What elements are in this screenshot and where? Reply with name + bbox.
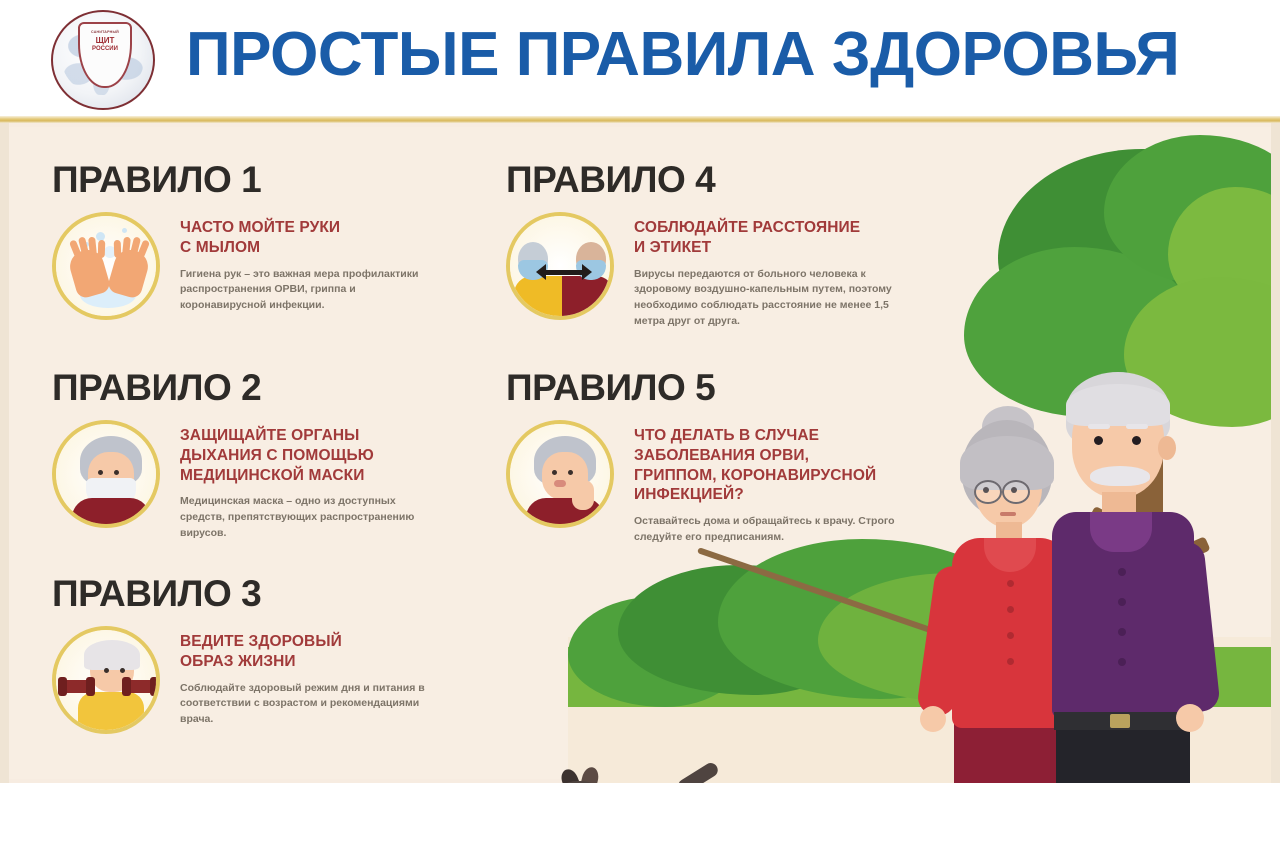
- torso: [78, 692, 144, 734]
- rule-block-3: ПРАВИЛО 3: [52, 575, 452, 734]
- man-eyebrow: [1126, 424, 1148, 429]
- mouth: [554, 480, 566, 487]
- man-ear: [1158, 436, 1176, 460]
- rule-number: ПРАВИЛО 5: [506, 369, 926, 406]
- distance-arrow-line: [544, 270, 584, 275]
- dumbbell-cap: [58, 677, 67, 696]
- man-eye: [1094, 436, 1103, 445]
- rule-body-text: Соблюдайте здоровый режим дня и питания …: [180, 681, 432, 728]
- person-in-mask-icon: [52, 420, 160, 528]
- infographic-poster: САНИТАРНЫЙ ЩИТ РОССИИ ПРОСТЫЕ ПРАВИЛА ЗД…: [0, 0, 1280, 866]
- poster-footer: Ваш Роспотребнадзор: [0, 783, 1280, 866]
- eye: [552, 470, 557, 475]
- person-right-body: [562, 276, 614, 320]
- header-divider: [0, 116, 1280, 123]
- finger: [98, 240, 106, 258]
- man-eyebrow: [1088, 424, 1110, 429]
- logo-line-2: ЩИТ: [96, 37, 115, 45]
- left-frame: [0, 123, 9, 783]
- poster-header: САНИТАРНЫЙ ЩИТ РОССИИ ПРОСТЫЕ ПРАВИЛА ЗД…: [0, 0, 1280, 118]
- rule-number: ПРАВИЛО 1: [52, 161, 452, 198]
- rule-number: ПРАВИЛО 2: [52, 369, 452, 406]
- woman-button: [1007, 580, 1014, 587]
- eye: [104, 668, 109, 673]
- rule-number: ПРАВИЛО 4: [506, 161, 926, 198]
- rule-block-5: ПРАВИЛО 5 ЧТО ДЕЛАТЬ В СЛУЧАЕ: [506, 369, 926, 546]
- woman-button: [1007, 606, 1014, 613]
- rule-body-text: Гигиена рук – это важная мера профилакти…: [180, 267, 430, 314]
- dumbbell-cap: [150, 677, 159, 696]
- arrow-head-right: [582, 264, 592, 280]
- rule-block-2: ПРАВИЛО 2 ЗАЩИЩАЙТЕ ОРГАНЫ ДЫХАНИЯ С ПОМ…: [52, 369, 452, 542]
- hand-to-face: [572, 480, 594, 510]
- belt-buckle: [1110, 714, 1130, 728]
- eye: [98, 470, 103, 475]
- rule-body-text: Оставайтесь дома и обращайтесь к врачу. …: [634, 514, 922, 546]
- sick-person-calling-icon: [506, 420, 614, 528]
- man-mustache: [1090, 466, 1150, 486]
- poster-body: ПРАВИЛО 1: [0, 123, 1280, 783]
- finger: [114, 240, 122, 258]
- eye: [120, 668, 125, 673]
- person-left-body: [514, 276, 564, 320]
- hair: [84, 640, 140, 670]
- eye: [568, 470, 573, 475]
- man-collar: [1090, 512, 1152, 552]
- dumbbell-exercise-icon: [52, 626, 160, 734]
- dumbbell-cap: [86, 677, 95, 696]
- rule-heading: ВЕДИТЕ ЗДОРОВЫЙ ОБРАЗ ЖИЗНИ: [180, 632, 432, 672]
- rule-heading: ЗАЩИЩАЙТЕ ОРГАНЫ ДЫХАНИЯ С ПОМОЩЬЮ МЕДИЦ…: [180, 426, 432, 485]
- logo-line-3: РОССИИ: [92, 46, 118, 52]
- torso: [72, 498, 150, 528]
- arrow-head-left: [536, 264, 546, 280]
- dog-illustration: [548, 767, 728, 783]
- right-frame: [1271, 123, 1280, 783]
- rule-number: ПРАВИЛО 3: [52, 575, 452, 612]
- man-eye: [1132, 436, 1141, 445]
- body-panel: ПРАВИЛО 1: [8, 127, 1272, 779]
- page-title: ПРОСТЫЕ ПРАВИЛА ЗДОРОВЬЯ: [186, 6, 1256, 102]
- dumbbell-cap: [122, 677, 131, 696]
- man-button: [1118, 628, 1126, 636]
- washing-hands-icon: [52, 212, 160, 320]
- glasses-icon: [1002, 480, 1030, 504]
- rule-heading: СОБЛЮДАЙТЕ РАССТОЯНИЕ И ЭТИКЕТ: [634, 218, 922, 258]
- rule-heading: ЧТО ДЕЛАТЬ В СЛУЧАЕ ЗАБОЛЕВАНИЯ ОРВИ, ГР…: [634, 426, 922, 505]
- elderly-man: [1044, 372, 1209, 783]
- man-button: [1118, 598, 1126, 606]
- rule-body-text: Вирусы передаются от больного человека к…: [634, 267, 922, 330]
- glasses-icon: [974, 480, 1002, 504]
- woman-hand: [920, 706, 946, 732]
- man-button: [1118, 658, 1126, 666]
- logo-line-1: САНИТАРНЫЙ: [91, 31, 119, 35]
- man-trousers: [1056, 726, 1190, 783]
- elderly-couple-illustration: [948, 372, 1208, 783]
- sanitary-shield-logo: САНИТАРНЫЙ ЩИТ РОССИИ: [38, 4, 168, 114]
- rule-heading: ЧАСТО МОЙТЕ РУКИ С МЫЛОМ: [180, 218, 430, 258]
- social-distance-icon: [506, 212, 614, 320]
- man-button: [1118, 568, 1126, 576]
- man-hand: [1176, 704, 1204, 732]
- rule-body-text: Медицинская маска – одно из доступных ср…: [180, 494, 432, 541]
- eye: [114, 470, 119, 475]
- woman-button: [1007, 658, 1014, 665]
- man-hair-front: [1066, 384, 1170, 426]
- woman-mouth: [1000, 512, 1016, 516]
- woman-button: [1007, 632, 1014, 639]
- rule-block-4: ПРАВИЛО 4 СОБЛЮД: [506, 161, 926, 330]
- bubble: [122, 228, 127, 233]
- rule-block-1: ПРАВИЛО 1: [52, 161, 452, 320]
